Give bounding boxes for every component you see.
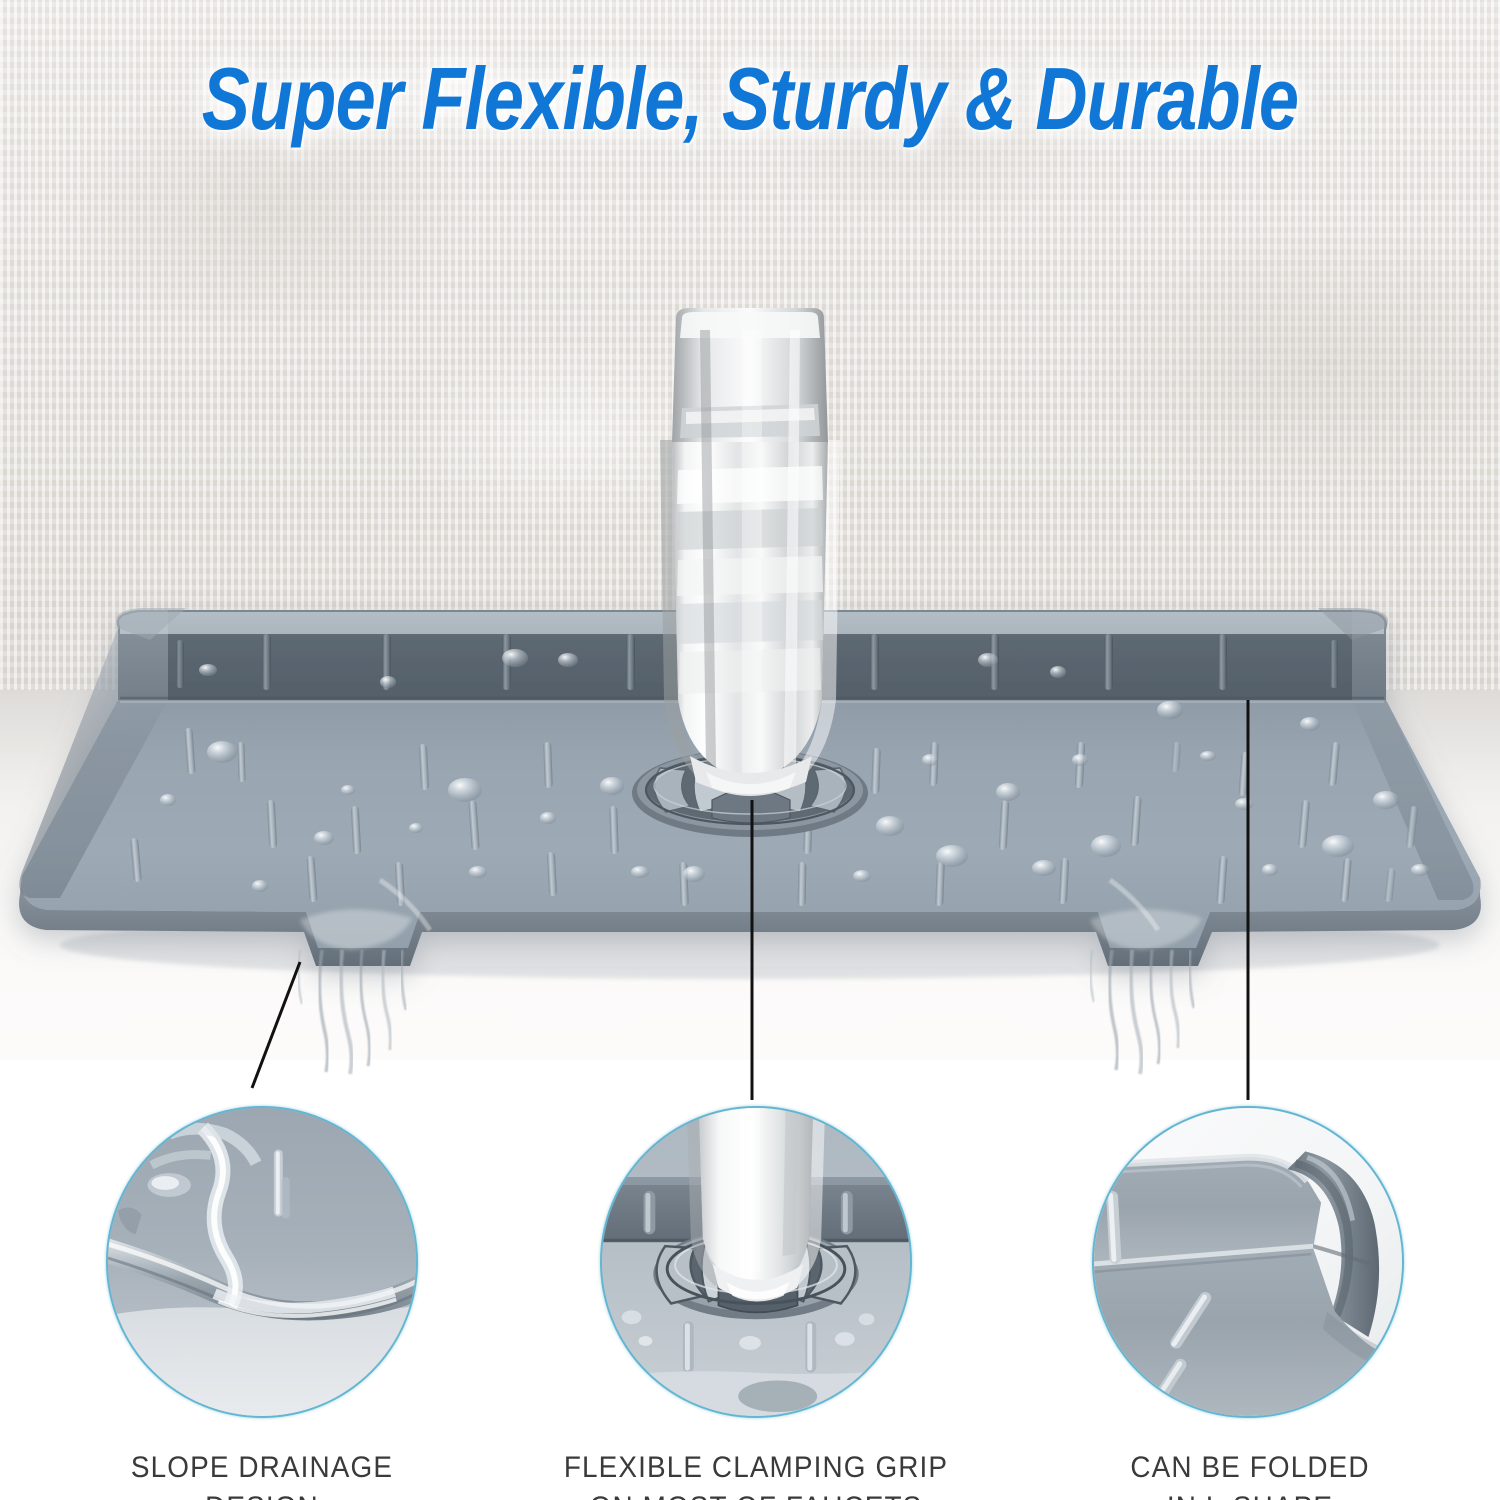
caption-folded-l-shape: CAN BE FOLDED IN L-SHAPE <box>1045 1448 1454 1500</box>
caption-clamping-grip-line2: ON MOST OF FAUCETS <box>533 1488 979 1500</box>
caption-slope-drainage-line2: DESIGN <box>57 1488 466 1500</box>
caption-slope-drainage-line1: SLOPE DRAINAGE <box>57 1448 466 1488</box>
caption-clamping-grip-line1: FLEXIBLE CLAMPING GRIP <box>533 1448 979 1488</box>
countertop-shadow <box>0 690 1500 990</box>
page-title: Super Flexible, Sturdy & Durable <box>135 48 1365 150</box>
callout-circle-slope-drainage <box>106 1106 418 1418</box>
caption-clamping-grip: FLEXIBLE CLAMPING GRIP ON MOST OF FAUCET… <box>533 1448 979 1500</box>
caption-slope-drainage: SLOPE DRAINAGE DESIGN <box>57 1448 466 1500</box>
caption-folded-l-shape-line2: IN L-SHAPE <box>1045 1488 1454 1500</box>
callout-circle-folded-l-shape <box>1092 1106 1404 1418</box>
callout-circle-clamping-grip <box>600 1106 912 1418</box>
infographic-canvas: Super Flexible, Sturdy & Durable <box>0 0 1500 1500</box>
caption-folded-l-shape-line1: CAN BE FOLDED <box>1045 1448 1454 1488</box>
